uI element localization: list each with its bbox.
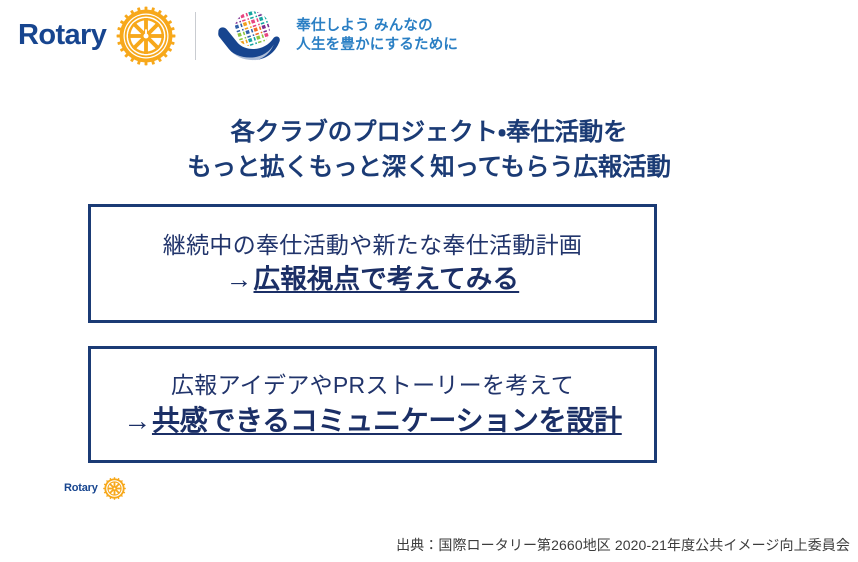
rotary-logo-lockup: Rotary [18, 8, 458, 64]
callout-box-1-top-line: 継続中の奉仕活動や新たな奉仕活動計画 [163, 231, 582, 260]
rotary-footer-mark: Rotary [64, 477, 126, 500]
rotary-wheel-icon [116, 6, 176, 66]
hand-holding-globe-icon [213, 8, 285, 64]
callout-box-2-emphasis-text: 共感できるコミュニケーションを設計 [152, 404, 622, 438]
arrow-right-icon: → [123, 404, 152, 438]
callout-box-2-emphasis-line: → 共感できるコミュニケーションを設計 [123, 404, 622, 438]
rotary-wordmark: Rotary [18, 21, 106, 52]
callout-box-2-top-line: 広報アイデアやPRストーリーを考えて [171, 371, 574, 400]
lockup-divider [195, 12, 196, 60]
slide-canvas: Rotary [0, 0, 858, 562]
people-of-action-tagline: 奉仕しよう みんなの 人生を豊かにするために [296, 17, 458, 56]
page-title: 各クラブのプロジェクト・奉仕活動を もっと拡くもっと深く知ってもらう広報活動 [0, 116, 858, 186]
callout-box-1-emphasis-line: → 広報視点で考えてみる [226, 264, 519, 296]
source-attribution: 出典：国際ロータリー第2660地区 2020-21年度公共イメージ向上委員会 [396, 537, 850, 554]
rotary-wheel-icon [103, 477, 126, 500]
callout-box-2: 広報アイデアやPRストーリーを考えて → 共感できるコミュニケーションを設計 [88, 346, 657, 463]
callout-box-1-emphasis-text: 広報視点で考えてみる [254, 264, 520, 296]
callout-box-1: 継続中の奉仕活動や新たな奉仕活動計画 → 広報視点で考えてみる [88, 204, 657, 323]
rotary-footer-wordmark: Rotary [64, 483, 98, 494]
arrow-right-icon: → [226, 264, 254, 296]
